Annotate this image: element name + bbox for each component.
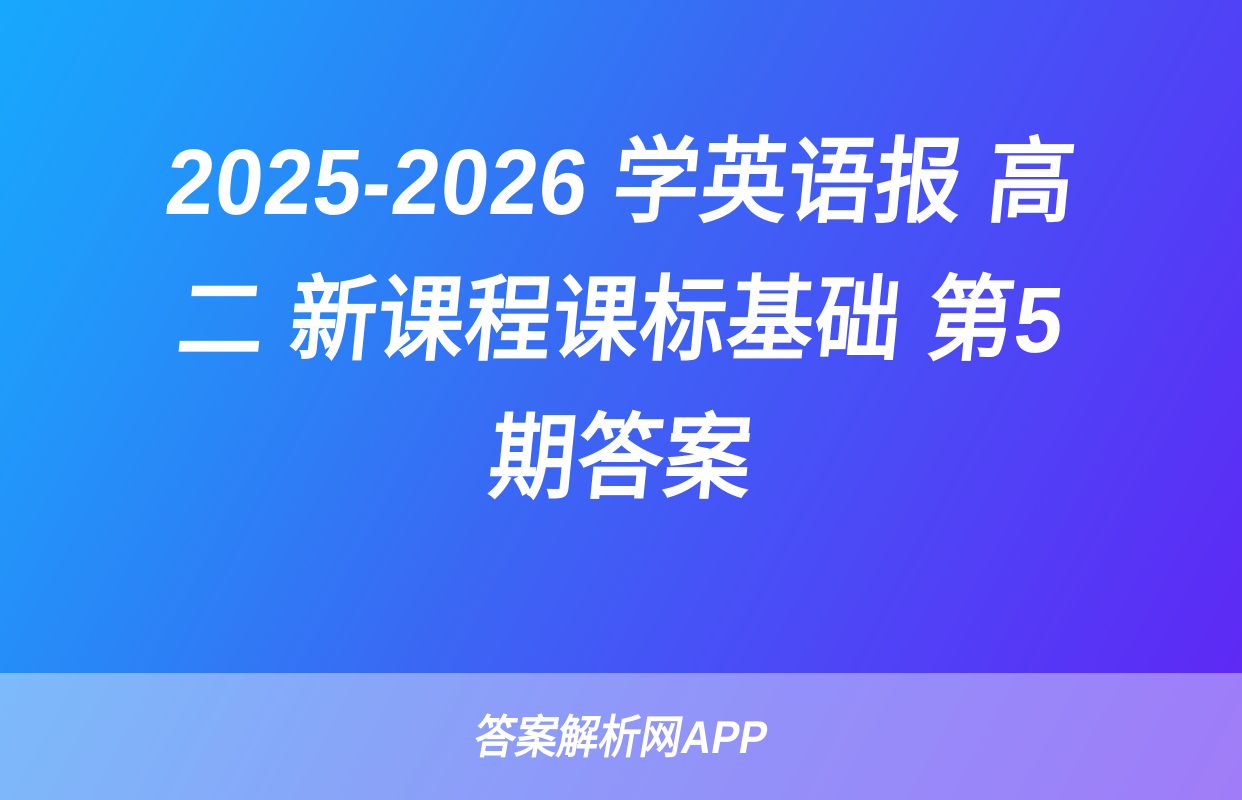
title-line-1: 2025-2026 学英语报 高 [94, 113, 1147, 251]
title-block: 2025-2026 学英语报 高 二 新课程课标基础 第5 期答案 [0, 0, 1242, 673]
footer-brand-band: 答案解析网APP [0, 673, 1242, 800]
title-line-3: 期答案 [94, 389, 1147, 527]
promo-banner: 2025-2026 学英语报 高 二 新课程课标基础 第5 期答案 答案解析网A… [0, 0, 1242, 800]
brand-label: 答案解析网APP [471, 714, 771, 760]
title-line-2: 二 新课程课标基础 第5 [94, 251, 1147, 389]
